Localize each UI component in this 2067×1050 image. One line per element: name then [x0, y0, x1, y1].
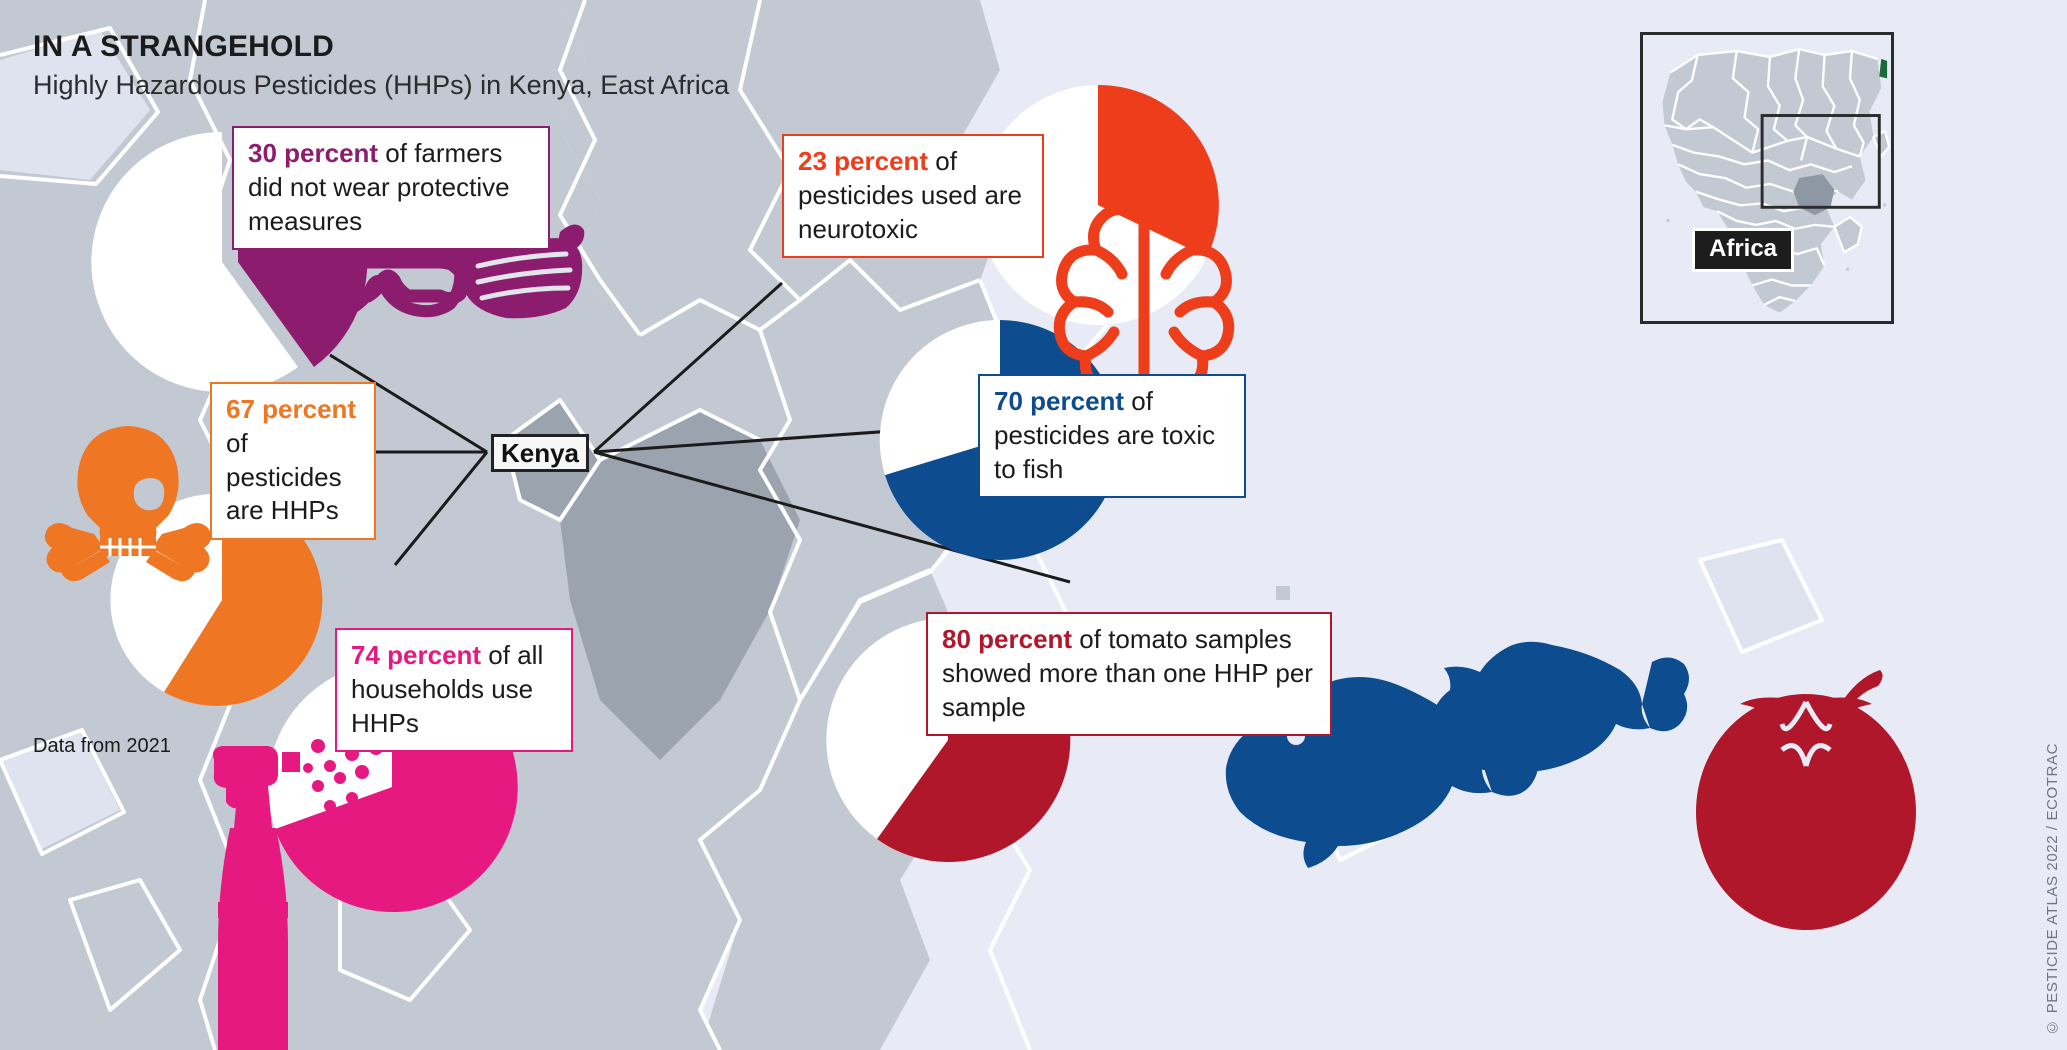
callout-value: 67 percent — [226, 394, 356, 424]
africa-label: Africa — [1692, 228, 1794, 272]
callout-neurotoxic[interactable]: 23 percent of pesticides used are neurot… — [782, 134, 1044, 258]
africa-inset-svg — [1643, 35, 1891, 321]
africa-inset-map — [1640, 32, 1894, 324]
callout-value: 80 percent — [942, 624, 1072, 654]
infographic-canvas: Africa IN A STRANGEHOLD Highly Hazardous… — [0, 0, 2067, 1050]
data-year-note: Data from 2021 — [33, 735, 171, 758]
spray-bottle-icon — [213, 746, 300, 1050]
callout-value: 74 percent — [351, 640, 481, 670]
callout-hhp-share[interactable]: 67 percent of pesticides are HHPs — [210, 382, 376, 540]
copyright-credit: © PESTICIDE ATLAS 2022 / ECOTRAC — [2044, 743, 2061, 1036]
callout-household-use[interactable]: 74 percent of all households use HHPs — [335, 628, 573, 752]
callout-tomato-samples[interactable]: 80 percent of tomato samples showed more… — [926, 612, 1332, 736]
callout-value: 30 percent — [248, 138, 378, 168]
tomato-icon — [1696, 670, 1916, 930]
page-subtitle: Highly Hazardous Pesticides (HHPs) in Ke… — [33, 70, 729, 101]
brain-icon — [1059, 208, 1228, 392]
callout-text: of pesticides are HHPs — [226, 428, 342, 526]
callout-fish-toxicity[interactable]: 70 percent of pesticides are toxic to fi… — [978, 374, 1246, 498]
callout-value: 70 percent — [994, 386, 1124, 416]
callout-value: 23 percent — [798, 146, 928, 176]
skull-and-crossbones-icon — [45, 426, 211, 581]
page-title: IN A STRANGEHOLD — [33, 30, 334, 64]
callout-protective-measures[interactable]: 30 percent of farmers did not wear prote… — [232, 126, 550, 250]
kenya-country-label: Kenya — [491, 434, 589, 472]
